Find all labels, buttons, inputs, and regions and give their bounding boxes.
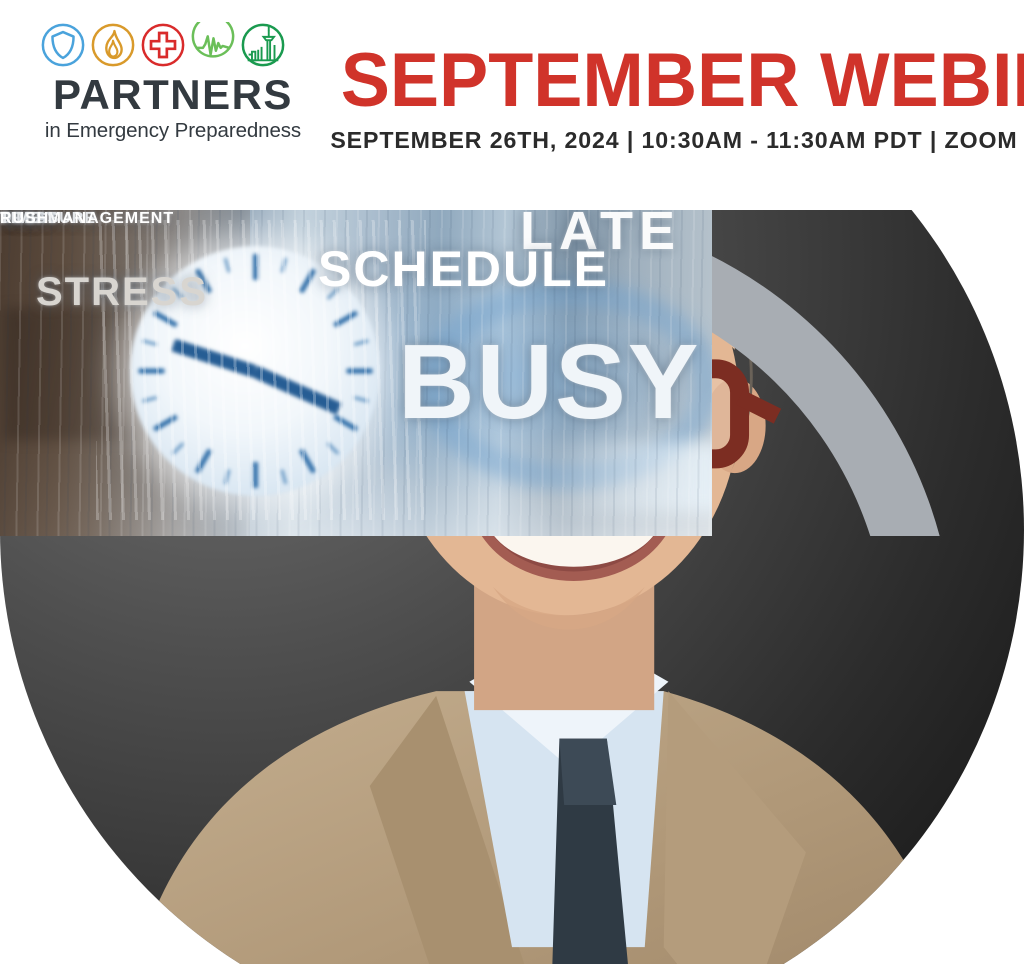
webinar-meta: SEPTEMBER 26TH, 2024 | 10:30AM - 11:30AM… (330, 127, 1010, 154)
brand-tagline: in Emergency Preparedness (26, 119, 320, 143)
banner-word-rush: RUSH (0, 210, 49, 228)
poster-header: PARTNERS in Emergency Preparedness SEPTE… (0, 0, 1024, 210)
banner-strip: LATE SCHEDULE BUSY STRESS DELAY PRESSURE… (0, 210, 1024, 536)
shield-icon (40, 22, 86, 68)
banner-word-busy: BUSY (398, 322, 701, 443)
brand-lockup: PARTNERS in Emergency Preparedness (26, 22, 326, 143)
webinar-title: SEPTEMBER WEBINAR (341, 46, 1010, 116)
brand-icon-row (40, 22, 326, 68)
medical-cross-icon (140, 22, 186, 68)
header-text-group: SEPTEMBER WEBINAR SEPTEMBER 26TH, 2024 |… (320, 46, 1010, 154)
banner-word-schedule: SCHEDULE (318, 240, 609, 298)
seismograph-icon (190, 22, 236, 68)
space-needle-icon (240, 22, 286, 68)
brand-wordmark: PARTNERS (26, 74, 320, 116)
flame-icon (90, 22, 136, 68)
banner-photo: LATE SCHEDULE BUSY STRESS DELAY PRESSURE… (0, 210, 712, 536)
webinar-promo-poster: PARTNERS in Emergency Preparedness SEPTE… (0, 0, 1024, 964)
banner-word-stress: STRESS (36, 270, 208, 315)
